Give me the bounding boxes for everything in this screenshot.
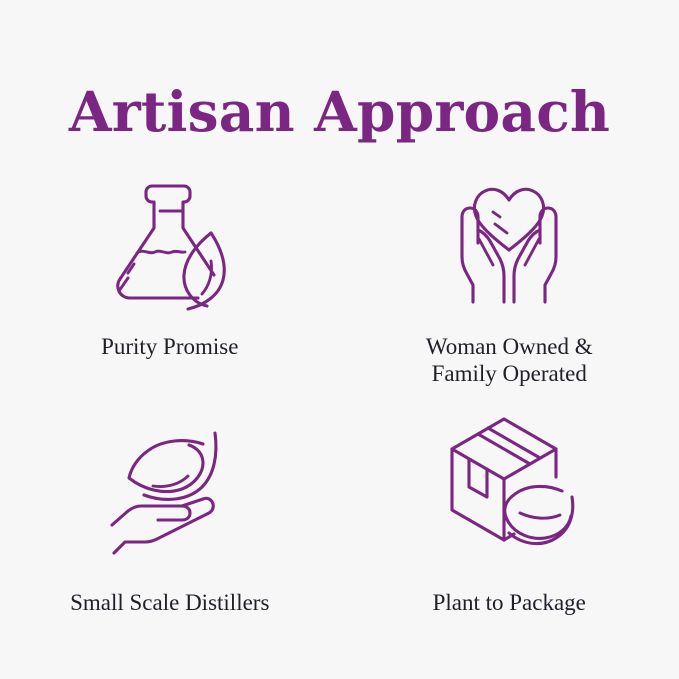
- feature-label: Purity Promise: [101, 333, 238, 360]
- feature-grid: Purity Promise: [0, 150, 679, 653]
- page-title: Artisan Approach: [0, 81, 679, 143]
- feature-label: Woman Owned & Family Operated: [426, 333, 593, 387]
- feature-label: Small Scale Distillers: [70, 589, 269, 616]
- feature-item-purity-promise: Purity Promise: [0, 150, 340, 403]
- hands-heart-icon: [429, 160, 589, 320]
- feature-item-woman-owned: Woman Owned & Family Operated: [340, 150, 679, 403]
- box-leaf-icon: [429, 403, 589, 563]
- flask-leaf-icon: [90, 160, 250, 320]
- feature-item-plant-to-package: Plant to Package: [340, 403, 679, 653]
- feature-item-small-scale-distillers: Small Scale Distillers: [0, 403, 340, 653]
- artisan-approach-panel: Artisan Approach: [0, 0, 679, 679]
- hand-leaf-icon: [90, 409, 250, 569]
- feature-label: Plant to Package: [433, 589, 586, 616]
